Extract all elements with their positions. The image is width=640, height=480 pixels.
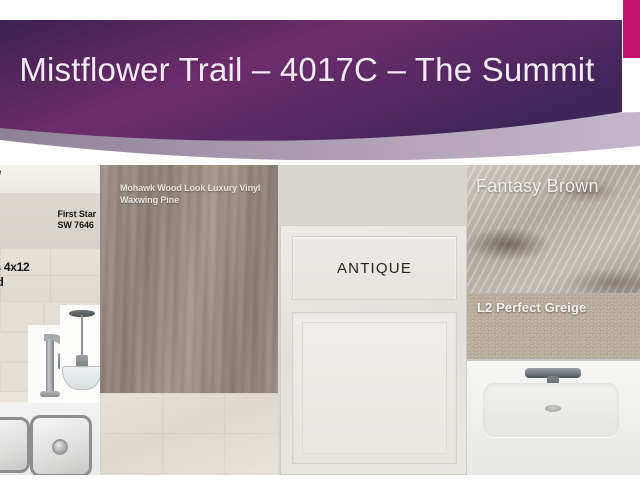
pendant-rod-icon (81, 315, 83, 357)
vanity-drain-icon (545, 405, 561, 412)
accent-bar (623, 0, 640, 58)
cabinet-door-sample: ANTIQUE (280, 225, 467, 475)
vanity-top-photo (467, 359, 640, 475)
pendant-glass-shade-icon (62, 366, 100, 390)
floor-tile-swatch (100, 393, 278, 475)
presentation-slide: Mistflower Trail – 4017C – The Summit hi… (0, 0, 640, 480)
vanity-faucet-icon (525, 368, 581, 378)
paint-swatch-first-star-label: First Star SW 7646 (57, 209, 96, 231)
granite-label: Fantasy Brown (476, 176, 599, 197)
cabinet-panel-inset (302, 322, 447, 454)
vinyl-plank-swatch: Mohawk Wood Look Luxury Vinyl Waxwing Pi… (100, 165, 278, 393)
paint-swatch-white-label: hite 6 (0, 167, 1, 189)
cabinet-label: ANTIQUE (337, 260, 412, 277)
stainless-sink-photo (0, 403, 100, 475)
faucet-base-icon (40, 391, 60, 397)
sink-drain-icon (52, 439, 68, 455)
paint-swatch-first-star: First Star SW 7646 (0, 193, 100, 248)
banner-shape (0, 0, 640, 160)
granite-swatch: Fantasy Brown (467, 165, 640, 293)
title-banner: Mistflower Trail – 4017C – The Summit (0, 0, 640, 160)
sink-bowl-left (0, 417, 30, 473)
carpet-label: L2 Perfect Greige (477, 300, 586, 315)
backsplash-tile-swatch: mpus 4x12 ulated (0, 248, 100, 302)
left-swatch-column: hite 6 First Star SW 7646 mpus 4x12 ulat… (0, 165, 100, 475)
carpet-swatch: L2 Perfect Greige (467, 293, 640, 359)
cabinet-top-rail: ANTIQUE (292, 236, 457, 300)
cabinet-center-panel (292, 312, 457, 464)
paint-swatch-white: hite 6 (0, 165, 100, 193)
pendant-light-photo (60, 305, 100, 405)
backsplash-tile-label: mpus 4x12 ulated (0, 260, 29, 290)
faucet-body-icon (46, 339, 54, 393)
design-board-image: hite 6 First Star SW 7646 mpus 4x12 ulat… (0, 165, 640, 475)
vinyl-plank-label: Mohawk Wood Look Luxury Vinyl Waxwing Pi… (120, 182, 260, 206)
right-material-column: Fantasy Brown L2 Perfect Greige (467, 165, 640, 475)
